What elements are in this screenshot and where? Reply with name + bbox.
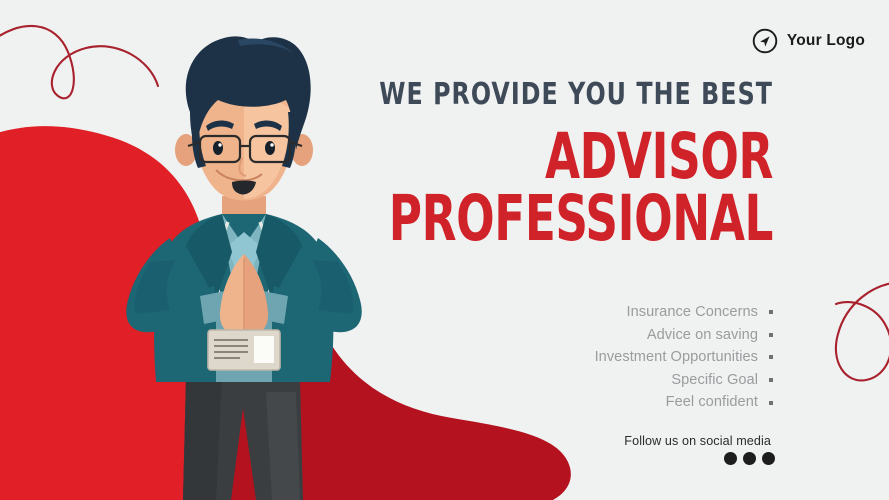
red-curve-right — [836, 282, 889, 380]
follow-us-label: Follow us on social media — [624, 434, 771, 448]
social-links[interactable] — [724, 452, 775, 465]
square-bullet-icon — [769, 333, 773, 337]
headline-kicker: WE PROVIDE YOU THE BEST — [192, 80, 773, 110]
square-bullet-icon — [769, 401, 773, 405]
service-list: Insurance Concerns Advice on saving Inve… — [353, 301, 773, 414]
list-item-label: Advice on saving — [647, 328, 758, 343]
list-item-label: Investment Opportunities — [595, 350, 758, 365]
social-dot-3-icon[interactable] — [762, 452, 775, 465]
list-item: Specific Goal — [353, 369, 773, 392]
pants-shade-right — [266, 392, 300, 500]
social-dot-1-icon[interactable] — [724, 452, 737, 465]
navigation-arrow-in-circle-icon — [752, 28, 778, 54]
headline-line-2: PROFESSIONAL — [245, 190, 773, 248]
pants-shade-left — [183, 378, 222, 500]
headline-block: WE PROVIDE YOU THE BEST ADVISOR PROFESSI… — [113, 80, 773, 248]
logo-text: Your Logo — [787, 32, 865, 50]
poster-canvas: Your Logo WE PROVIDE YOU THE BEST ADVISO… — [0, 0, 889, 500]
headline-line-1: ADVISOR — [245, 128, 773, 186]
square-bullet-icon — [769, 355, 773, 359]
logo[interactable]: Your Logo — [752, 28, 865, 54]
list-item: Investment Opportunities — [353, 346, 773, 369]
list-item: Feel confident — [353, 391, 773, 414]
square-bullet-icon — [769, 310, 773, 314]
list-item: Advice on saving — [353, 324, 773, 347]
list-item-label: Feel confident — [666, 395, 758, 410]
square-bullet-icon — [769, 378, 773, 382]
list-item-label: Specific Goal — [671, 373, 758, 388]
list-item: Insurance Concerns — [353, 301, 773, 324]
social-dot-2-icon[interactable] — [743, 452, 756, 465]
list-item-label: Insurance Concerns — [626, 305, 758, 320]
id-badge-photo — [254, 336, 274, 363]
